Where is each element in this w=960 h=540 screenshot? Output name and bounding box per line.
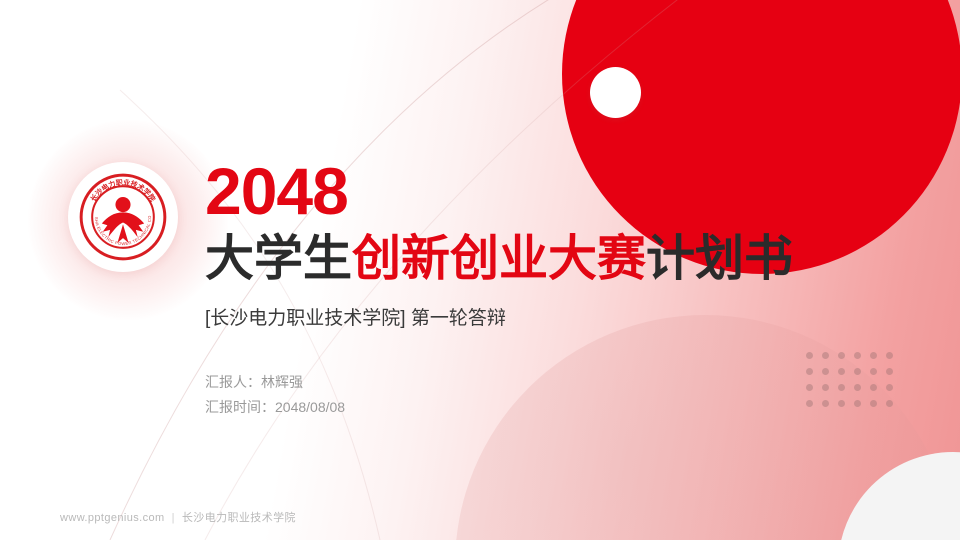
presentation-cover-slide: 长沙电力职业技术学院 CHANGSHA ELECTRIC POWER TECHN…: [0, 0, 960, 540]
page-title: 大学生创新创业大赛计划书: [205, 232, 793, 287]
title-highlight: 创新创业大赛: [352, 232, 646, 286]
presenter-name: 汇报人：林辉强: [205, 370, 345, 395]
footer-organization: 长沙电力职业技术学院: [182, 512, 296, 524]
college-emblem-icon: 长沙电力职业技术学院 CHANGSHA ELECTRIC POWER TECHN…: [77, 171, 169, 263]
college-logo: 长沙电力职业技术学院 CHANGSHA ELECTRIC POWER TECHN…: [68, 162, 178, 272]
footer: www.pptgenius.com|长沙电力职业技术学院: [60, 509, 296, 525]
footer-separator: |: [172, 512, 175, 524]
cover-text-content: 2048 大学生创新创业大赛计划书 [长沙电力职业技术学院] 第一轮答辩 汇报人…: [205, 0, 905, 540]
title-tail: 计划书: [646, 232, 793, 286]
presenter-info: 汇报人：林辉强 汇报时间：2048/08/08: [205, 370, 345, 419]
subtitle: [长沙电力职业技术学院] 第一轮答辩: [205, 303, 506, 330]
presentation-date: 汇报时间：2048/08/08: [205, 395, 345, 420]
footer-website[interactable]: www.pptgenius.com: [60, 512, 165, 524]
title-lead: 大学生: [205, 232, 352, 286]
year-heading: 2048: [205, 158, 348, 224]
